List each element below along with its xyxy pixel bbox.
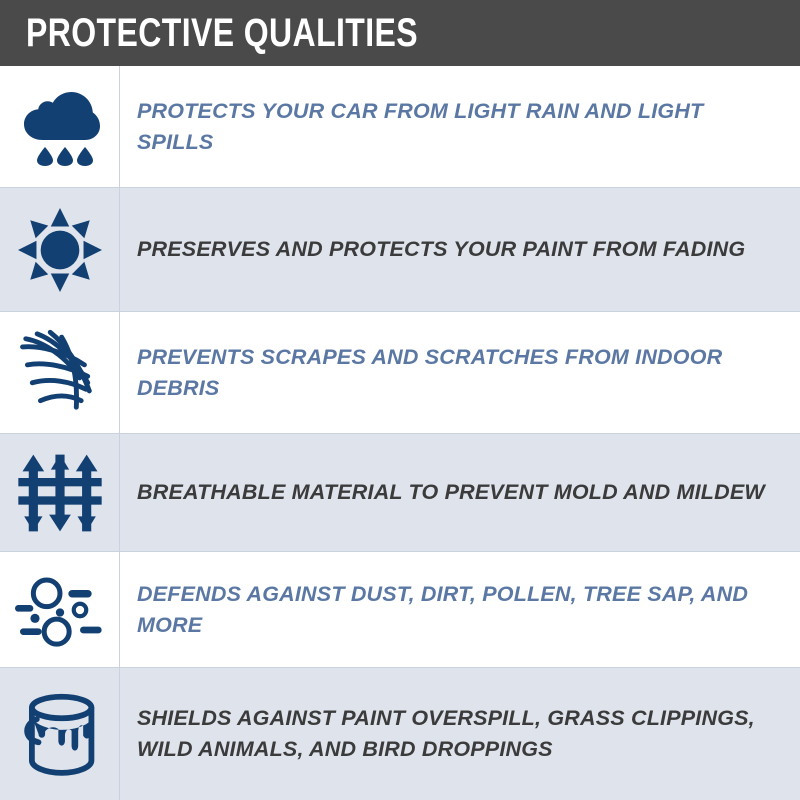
feature-text: DEFENDS AGAINST DUST, DIRT, POLLEN, TREE… bbox=[137, 579, 778, 640]
sun-icon bbox=[18, 208, 102, 292]
icon-cell bbox=[0, 552, 120, 667]
icon-cell bbox=[0, 66, 120, 187]
feature-row-rain: PROTECTS YOUR CAR FROM LIGHT RAIN AND LI… bbox=[0, 66, 800, 188]
feature-text: PRESERVES AND PROTECTS YOUR PAINT FROM F… bbox=[137, 234, 745, 265]
dust-particles-icon bbox=[15, 573, 105, 647]
icon-cell bbox=[0, 434, 120, 551]
rain-cloud-icon bbox=[20, 88, 100, 166]
text-cell: SHIELDS AGAINST PAINT OVERSPILL, GRASS C… bbox=[120, 668, 800, 800]
feature-text: BREATHABLE MATERIAL TO PREVENT MOLD AND … bbox=[137, 477, 765, 508]
feature-row-sun: PRESERVES AND PROTECTS YOUR PAINT FROM F… bbox=[0, 188, 800, 312]
breathable-airflow-icon bbox=[18, 453, 102, 533]
feature-text: PREVENTS SCRAPES AND SCRATCHES FROM INDO… bbox=[137, 342, 778, 403]
page-title: PROTECTIVE QUALITIES bbox=[26, 13, 418, 53]
feature-text: SHIELDS AGAINST PAINT OVERSPILL, GRASS C… bbox=[137, 703, 778, 764]
header-bar: PROTECTIVE QUALITIES bbox=[0, 0, 800, 66]
text-cell: PRESERVES AND PROTECTS YOUR PAINT FROM F… bbox=[120, 188, 800, 311]
feature-row-dust: DEFENDS AGAINST DUST, DIRT, POLLEN, TREE… bbox=[0, 552, 800, 668]
text-cell: PROTECTS YOUR CAR FROM LIGHT RAIN AND LI… bbox=[120, 66, 800, 187]
text-cell: BREATHABLE MATERIAL TO PREVENT MOLD AND … bbox=[120, 434, 800, 551]
text-cell: DEFENDS AGAINST DUST, DIRT, POLLEN, TREE… bbox=[120, 552, 800, 667]
text-cell: PREVENTS SCRAPES AND SCRATCHES FROM INDO… bbox=[120, 312, 800, 433]
icon-cell bbox=[0, 312, 120, 433]
icon-cell bbox=[0, 668, 120, 800]
feature-row-scratches: PREVENTS SCRAPES AND SCRATCHES FROM INDO… bbox=[0, 312, 800, 434]
feature-text: PROTECTS YOUR CAR FROM LIGHT RAIN AND LI… bbox=[137, 96, 778, 157]
feature-list: PROTECTS YOUR CAR FROM LIGHT RAIN AND LI… bbox=[0, 66, 800, 800]
protective-qualities-infographic: PROTECTIVE QUALITIES PROTEC bbox=[0, 0, 800, 800]
feature-row-breathable: BREATHABLE MATERIAL TO PREVENT MOLD AND … bbox=[0, 434, 800, 552]
icon-cell bbox=[0, 188, 120, 311]
feature-row-paint: SHIELDS AGAINST PAINT OVERSPILL, GRASS C… bbox=[0, 668, 800, 800]
mesh-scratch-icon bbox=[19, 329, 101, 417]
paint-can-icon bbox=[20, 691, 100, 777]
